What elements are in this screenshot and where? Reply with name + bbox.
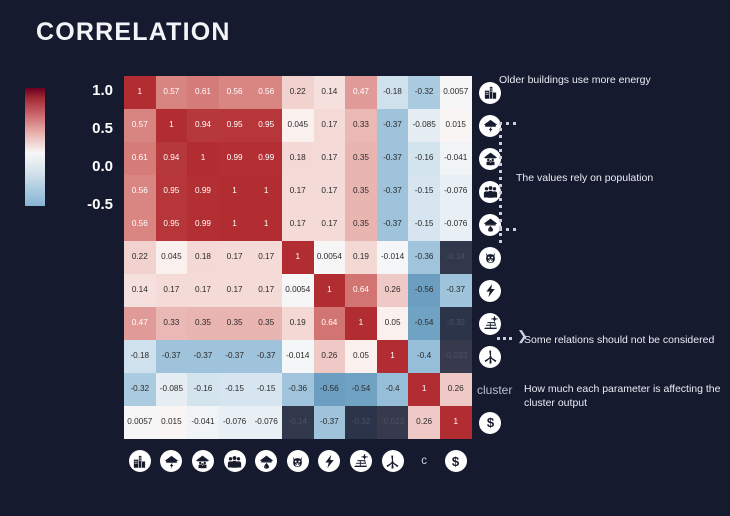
annotation-relations: Some relations should not be considered	[524, 333, 714, 347]
matrix-cell: 0.17	[282, 175, 314, 208]
y-axis-label-9: cluster	[475, 373, 512, 406]
matrix-cell-value: -0.32	[415, 88, 434, 96]
matrix-cell-value: -0.014	[286, 352, 309, 360]
house-water-icon	[479, 214, 501, 236]
matrix-cell: -0.15	[250, 373, 282, 406]
matrix-cell-value: -0.37	[383, 154, 402, 162]
annotation-older-buildings: Older buildings use more energy	[499, 73, 651, 87]
solar-panel-icon	[350, 450, 372, 472]
matrix-cell-value: -0.041	[191, 418, 214, 426]
matrix-cell-value: 0.05	[385, 319, 401, 327]
matrix-cell-value: -0.37	[446, 286, 465, 294]
matrix-cell-value: 0.33	[353, 121, 369, 129]
matrix-cell: 0.045	[282, 109, 314, 142]
matrix-cell-value: 1	[232, 220, 237, 228]
matrix-cell-value: -0.014	[381, 253, 404, 261]
matrix-cell: 0.17	[314, 175, 346, 208]
matrix-cell-value: -0.076	[223, 418, 246, 426]
matrix-cell: 0.99	[219, 142, 251, 175]
x-axis-label-2	[187, 450, 219, 472]
matrix-cell-value: 0.17	[163, 286, 179, 294]
matrix-cell-value: 1	[453, 418, 458, 426]
matrix-cell-value: 0.0057	[127, 418, 152, 426]
y-axis-label-10: $	[475, 406, 512, 439]
matrix-cell: -0.32	[408, 76, 440, 109]
svg-text:$: $	[486, 415, 494, 430]
matrix-cell: 1	[124, 76, 156, 109]
x-axis-label-0	[124, 450, 156, 472]
matrix-cell: 0.14	[124, 274, 156, 307]
house-energy-icon	[160, 450, 182, 472]
matrix-cell: -0.56	[314, 373, 346, 406]
matrix-cell: 1	[219, 208, 251, 241]
matrix-cell: 0.94	[156, 142, 188, 175]
colorbar-tick-3: -0.5	[51, 196, 113, 213]
matrix-cell: 1	[282, 241, 314, 274]
matrix-cell-value: 0.99	[258, 154, 274, 162]
matrix-cell-value: 0.17	[321, 220, 337, 228]
matrix-cell: -0.076	[219, 406, 251, 439]
matrix-cell: -0.014	[282, 340, 314, 373]
matrix-cell-value: -0.37	[194, 352, 213, 360]
matrix-cell-value: -0.076	[444, 220, 467, 228]
matrix-cell: 0.19	[282, 307, 314, 340]
matrix-cell: 0.015	[440, 109, 472, 142]
house-family-icon	[479, 148, 501, 170]
matrix-cell-value: 0.17	[290, 220, 306, 228]
matrix-cell-value: 0.0054	[285, 286, 310, 294]
matrix-cell-value: 1	[138, 88, 143, 96]
annotation-population: The values rely on population	[516, 171, 653, 185]
matrix-cell-value: 0.17	[195, 286, 211, 294]
matrix-cell: 1	[250, 175, 282, 208]
matrix-cell-value: 0.17	[321, 187, 337, 195]
svg-text:$: $	[452, 454, 460, 469]
colorbar-gradient	[25, 88, 45, 206]
house-family-icon	[192, 450, 214, 472]
matrix-cell: -0.37	[250, 340, 282, 373]
matrix-cell: 0.47	[345, 76, 377, 109]
matrix-cell: -0.023	[377, 406, 409, 439]
matrix-cell: 0.18	[187, 241, 219, 274]
matrix-cell-value: -0.18	[383, 88, 402, 96]
matrix-cell-value: 0.99	[195, 220, 211, 228]
matrix-cell-value: -0.023	[381, 418, 404, 426]
matrix-cell: 0.17	[156, 274, 188, 307]
matrix-cell-value: 0.56	[132, 220, 148, 228]
matrix-cell-value: -0.041	[444, 154, 467, 162]
matrix-cell-value: 0.17	[321, 154, 337, 162]
matrix-cell-value: 0.95	[258, 121, 274, 129]
matrix-cell: -0.36	[408, 241, 440, 274]
matrix-cell-value: 0.61	[132, 154, 148, 162]
matrix-cell: 0.56	[219, 76, 251, 109]
matrix-cell: 0.56	[124, 208, 156, 241]
matrix-cell-value: 0.17	[258, 286, 274, 294]
matrix-cell-value: -0.54	[415, 319, 434, 327]
dollar-icon: $	[479, 412, 501, 434]
matrix-cell-value: 1	[169, 121, 174, 129]
matrix-cell-value: -0.32	[352, 418, 371, 426]
x-axis-labels: c$	[124, 450, 472, 472]
matrix-cell: 0.14	[314, 76, 346, 109]
matrix-cell: 0.35	[345, 142, 377, 175]
matrix-cell: -0.37	[156, 340, 188, 373]
matrix-cell: -0.37	[440, 274, 472, 307]
matrix-cell: 0.17	[250, 241, 282, 274]
y-axis-label-7	[475, 307, 512, 340]
matrix-cell: -0.18	[377, 76, 409, 109]
matrix-cell-value: 0.0054	[317, 253, 342, 261]
matrix-cell-value: 0.35	[353, 220, 369, 228]
matrix-cell: 0.17	[250, 274, 282, 307]
matrix-cell: -0.32	[124, 373, 156, 406]
matrix-cell: -0.4	[408, 340, 440, 373]
matrix-cell: 0.19	[345, 241, 377, 274]
matrix-cell: -0.041	[440, 142, 472, 175]
matrix-cell-value: -0.076	[444, 187, 467, 195]
matrix-cell: 0.17	[187, 274, 219, 307]
matrix-cell-value: -0.16	[415, 154, 434, 162]
y-axis-label-6	[475, 274, 512, 307]
matrix-cell: 0.47	[124, 307, 156, 340]
matrix-cell: -0.37	[377, 109, 409, 142]
matrix-cell-value: -0.37	[320, 418, 339, 426]
matrix-cell: 0.57	[124, 109, 156, 142]
house-energy-icon	[479, 115, 501, 137]
matrix-cell: 0.0054	[282, 274, 314, 307]
building-icon	[129, 450, 151, 472]
correlation-figure: CORRELATION 1.00.50.0-0.5 10.570.610.560…	[0, 0, 730, 516]
matrix-cell: 0.26	[408, 406, 440, 439]
matrix-cell-value: 0.35	[353, 187, 369, 195]
matrix-cell: -0.15	[408, 208, 440, 241]
matrix-cell-value: 0.57	[132, 121, 148, 129]
matrix-cell-value: 0.64	[321, 319, 337, 327]
matrix-cell: -0.085	[408, 109, 440, 142]
matrix-cell: -0.076	[250, 406, 282, 439]
matrix-cell-value: -0.4	[385, 385, 399, 393]
matrix-cell-value: -0.56	[415, 286, 434, 294]
dollar-icon: $	[445, 450, 467, 472]
matrix-cell-value: 0.47	[132, 319, 148, 327]
matrix-cell: 0.26	[314, 340, 346, 373]
matrix-cell-value: 0.14	[321, 88, 337, 96]
matrix-cell: 1	[156, 109, 188, 142]
matrix-cell-value: 1	[201, 154, 206, 162]
matrix-cell-value: -0.085	[413, 121, 436, 129]
matrix-cell: 0.05	[345, 340, 377, 373]
matrix-cell: 0.35	[219, 307, 251, 340]
matrix-cell-value: 0.18	[290, 154, 306, 162]
matrix-cell-value: 0.26	[448, 385, 464, 393]
matrix-cell: 1	[345, 307, 377, 340]
matrix-cell-value: 0.14	[132, 286, 148, 294]
matrix-cell-value: -0.15	[257, 385, 276, 393]
wind-turbine-icon	[479, 346, 501, 368]
matrix-cell: -0.014	[377, 241, 409, 274]
matrix-cell: 0.64	[345, 274, 377, 307]
matrix-cell-value: -0.37	[383, 121, 402, 129]
correlation-matrix: 10.570.610.560.560.220.140.47-0.18-0.320…	[124, 76, 472, 439]
matrix-cell-value: 0.17	[227, 286, 243, 294]
matrix-cell-value: 0.57	[163, 88, 179, 96]
matrix-cell-value: -0.32	[130, 385, 149, 393]
matrix-cell-value: 1	[232, 187, 237, 195]
x-axis-label-1	[156, 450, 188, 472]
matrix-cell: -0.16	[187, 373, 219, 406]
matrix-cell: 0.57	[156, 76, 188, 109]
matrix-cell-value: 0.56	[258, 88, 274, 96]
matrix-cell-value: 0.99	[195, 187, 211, 195]
matrix-cell-value: -0.37	[225, 352, 244, 360]
matrix-cell: 0.22	[282, 76, 314, 109]
matrix-cell: 0.94	[187, 109, 219, 142]
matrix-cell: -0.023	[440, 340, 472, 373]
matrix-cell-value: -0.37	[257, 352, 276, 360]
matrix-cell-value: 0.17	[290, 187, 306, 195]
matrix-cell: -0.54	[408, 307, 440, 340]
matrix-cell: -0.4	[377, 373, 409, 406]
annotation-connector-population-lower	[499, 228, 519, 238]
x-axis-label-7	[345, 450, 377, 472]
matrix-cell-value: -0.14	[446, 253, 465, 261]
matrix-cell: -0.18	[124, 340, 156, 373]
matrix-cell: 0.17	[219, 241, 251, 274]
matrix-cell-value: 0.94	[195, 121, 211, 129]
matrix-cell-value: 0.26	[321, 352, 337, 360]
colorbar-tick-labels: 1.00.50.0-0.5	[51, 82, 115, 214]
matrix-cell: -0.37	[377, 175, 409, 208]
matrix-cell: -0.16	[408, 142, 440, 175]
matrix-cell-value: 0.47	[353, 88, 369, 96]
matrix-cell-value: -0.18	[130, 352, 149, 360]
matrix-cell-value: 0.0057	[443, 88, 468, 96]
matrix-cell: 1	[250, 208, 282, 241]
matrix-cell-value: -0.37	[162, 352, 181, 360]
matrix-cell-value: 0.33	[163, 319, 179, 327]
matrix-cell: -0.14	[440, 241, 472, 274]
matrix-cell: 0.015	[156, 406, 188, 439]
matrix-cell: 0.61	[124, 142, 156, 175]
matrix-cell: 1	[187, 142, 219, 175]
matrix-cell-value: -0.36	[288, 385, 307, 393]
matrix-cell: 0.17	[219, 274, 251, 307]
y-axis-cluster-label: cluster	[477, 383, 512, 397]
matrix-cell: 0.33	[156, 307, 188, 340]
people-group-icon	[224, 450, 246, 472]
livestock-icon	[287, 450, 309, 472]
colorbar-tick-2: 0.0	[51, 158, 113, 175]
matrix-cell: -0.32	[440, 307, 472, 340]
matrix-cell: 0.0057	[124, 406, 156, 439]
matrix-cell: -0.36	[282, 373, 314, 406]
matrix-cell-value: 1	[327, 286, 332, 294]
house-water-icon	[255, 450, 277, 472]
matrix-cell: 0.045	[156, 241, 188, 274]
people-group-icon	[479, 181, 501, 203]
matrix-cell-value: -0.32	[446, 319, 465, 327]
matrix-cell-value: -0.36	[415, 253, 434, 261]
matrix-cell-value: 1	[359, 319, 364, 327]
solar-panel-icon	[479, 313, 501, 335]
matrix-cell: 0.26	[440, 373, 472, 406]
matrix-cell-value: 0.99	[227, 154, 243, 162]
matrix-cell: 0.95	[250, 109, 282, 142]
matrix-cell-value: -0.14	[288, 418, 307, 426]
x-axis-label-10: $	[440, 450, 472, 472]
matrix-cell: 0.0054	[314, 241, 346, 274]
matrix-cell: 0.22	[124, 241, 156, 274]
matrix-cell-value: -0.56	[320, 385, 339, 393]
matrix-cell: 0.56	[124, 175, 156, 208]
matrix-cell-value: -0.4	[417, 352, 431, 360]
matrix-cell: -0.37	[314, 406, 346, 439]
colorbar-legend: 1.00.50.0-0.5	[25, 88, 115, 208]
matrix-cell-value: 0.05	[353, 352, 369, 360]
matrix-cell-value: 0.22	[132, 253, 148, 261]
wind-turbine-icon	[382, 450, 404, 472]
matrix-cell-value: 0.015	[161, 418, 182, 426]
matrix-cell-value: -0.54	[352, 385, 371, 393]
lightning-bolt-icon	[318, 450, 340, 472]
matrix-cell: 0.61	[187, 76, 219, 109]
matrix-cell: -0.37	[187, 340, 219, 373]
matrix-cell-value: 0.94	[163, 154, 179, 162]
matrix-cell-value: 0.18	[195, 253, 211, 261]
matrix-cell-value: -0.15	[415, 220, 434, 228]
x-axis-label-3	[219, 450, 251, 472]
matrix-cell-value: 0.17	[227, 253, 243, 261]
matrix-cell-value: -0.16	[194, 385, 213, 393]
matrix-cell-value: 0.22	[290, 88, 306, 96]
matrix-cell: 1	[408, 373, 440, 406]
matrix-cell-value: -0.15	[415, 187, 434, 195]
matrix-cell-value: 0.95	[163, 220, 179, 228]
matrix-cell: -0.37	[377, 142, 409, 175]
matrix-cell-value: -0.37	[383, 220, 402, 228]
matrix-cell: 0.17	[314, 208, 346, 241]
matrix-cell-value: 0.35	[353, 154, 369, 162]
matrix-cell: -0.37	[377, 208, 409, 241]
matrix-cell: 0.35	[187, 307, 219, 340]
matrix-cell-value: 0.26	[385, 286, 401, 294]
matrix-cell-value: 0.56	[227, 88, 243, 96]
x-axis-label-9: c	[408, 450, 440, 472]
matrix-cell-value: -0.15	[225, 385, 244, 393]
building-icon	[479, 82, 501, 104]
matrix-cell: 0.17	[282, 208, 314, 241]
matrix-cell: 0.26	[377, 274, 409, 307]
colorbar-tick-0: 1.0	[51, 82, 113, 99]
matrix-cell-value: 0.045	[161, 253, 182, 261]
matrix-cell: -0.041	[187, 406, 219, 439]
lightning-bolt-icon	[479, 280, 501, 302]
matrix-cell: -0.37	[219, 340, 251, 373]
x-axis-label-8	[377, 450, 409, 472]
matrix-cell: 0.95	[156, 208, 188, 241]
matrix-cell: -0.15	[219, 373, 251, 406]
matrix-cell: 1	[377, 340, 409, 373]
matrix-cell-value: 0.19	[353, 253, 369, 261]
y-axis-label-5	[475, 241, 512, 274]
matrix-cell-value: 0.17	[258, 253, 274, 261]
matrix-cell: 0.17	[314, 109, 346, 142]
matrix-cell: 0.33	[345, 109, 377, 142]
matrix-cell: 0.99	[187, 208, 219, 241]
matrix-cell: 0.95	[219, 109, 251, 142]
page-title: CORRELATION	[36, 18, 231, 47]
x-axis-label-5	[282, 450, 314, 472]
matrix-cell: -0.076	[440, 175, 472, 208]
colorbar-tick-1: 0.5	[51, 120, 113, 137]
matrix-cell-value: 0.045	[288, 121, 309, 129]
matrix-cell-value: 0.35	[258, 319, 274, 327]
matrix-cell: 0.0057	[440, 76, 472, 109]
matrix-cell-value: 1	[264, 187, 269, 195]
x-axis-label-6	[314, 450, 346, 472]
annotation-connector-relations: ❯	[497, 337, 523, 345]
matrix-cell: 1	[440, 406, 472, 439]
matrix-cell: 0.99	[187, 175, 219, 208]
matrix-cell-value: 1	[422, 385, 427, 393]
matrix-cell: -0.14	[282, 406, 314, 439]
matrix-cell-value: 0.56	[132, 187, 148, 195]
matrix-cell: 0.35	[345, 175, 377, 208]
matrix-cell: 0.95	[156, 175, 188, 208]
matrix-cell-value: 0.35	[195, 319, 211, 327]
matrix-cell: 0.35	[345, 208, 377, 241]
x-axis-cluster-text: c	[421, 455, 427, 467]
matrix-cell-value: -0.023	[444, 352, 467, 360]
matrix-cell: 1	[219, 175, 251, 208]
matrix-cell-value: 0.26	[416, 418, 432, 426]
matrix-cell: -0.54	[345, 373, 377, 406]
matrix-cell: 0.64	[314, 307, 346, 340]
matrix-cell: -0.15	[408, 175, 440, 208]
matrix-cell: 1	[314, 274, 346, 307]
x-axis-label-4	[250, 450, 282, 472]
matrix-cell: -0.32	[345, 406, 377, 439]
matrix-cell-value: 0.95	[163, 187, 179, 195]
matrix-cell-value: 1	[264, 220, 269, 228]
matrix-cell-value: 1	[390, 352, 395, 360]
matrix-cell-value: 0.61	[195, 88, 211, 96]
annotation-cluster-output: How much each parameter is affecting the…	[524, 382, 724, 410]
matrix-cell-value: 0.19	[290, 319, 306, 327]
matrix-cell: -0.076	[440, 208, 472, 241]
livestock-icon	[479, 247, 501, 269]
matrix-cell: -0.085	[156, 373, 188, 406]
matrix-cell-value: 0.35	[227, 319, 243, 327]
matrix-cell: 0.18	[282, 142, 314, 175]
matrix-cell-value: 1	[295, 253, 300, 261]
matrix-cell-value: 0.95	[227, 121, 243, 129]
matrix-cell-value: -0.37	[383, 187, 402, 195]
matrix-cell-value: 0.17	[321, 121, 337, 129]
matrix-cell: 0.99	[250, 142, 282, 175]
matrix-cell-value: 0.015	[445, 121, 466, 129]
matrix-cell: -0.56	[408, 274, 440, 307]
matrix-cell-value: -0.085	[160, 385, 183, 393]
matrix-cell: 0.35	[250, 307, 282, 340]
matrix-cell: 0.05	[377, 307, 409, 340]
matrix-cell-value: 0.64	[353, 286, 369, 294]
matrix-cell: 0.56	[250, 76, 282, 109]
matrix-cell: 0.17	[314, 142, 346, 175]
matrix-cell-value: -0.076	[255, 418, 278, 426]
